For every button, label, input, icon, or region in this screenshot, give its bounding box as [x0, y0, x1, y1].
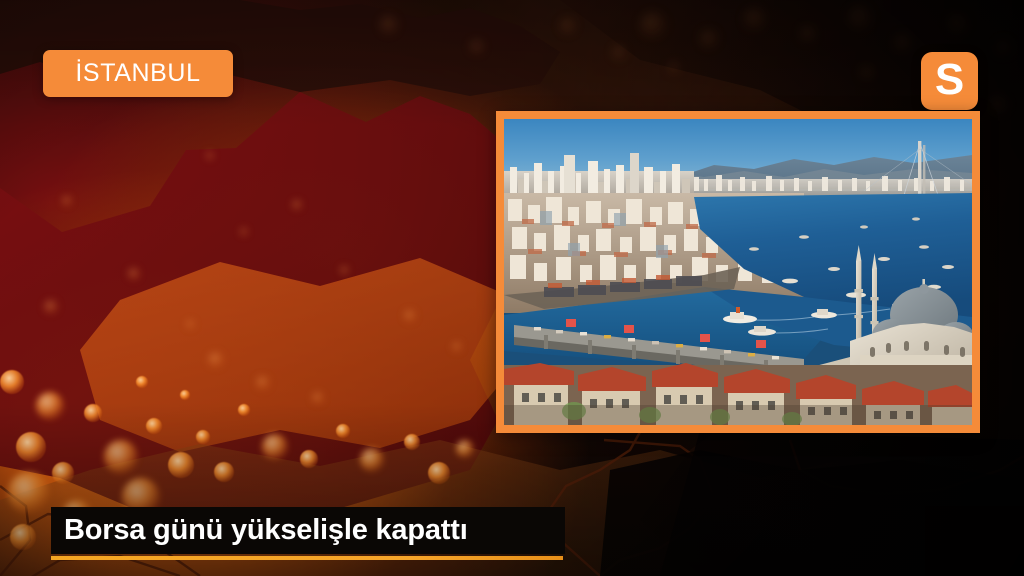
location-badge-label: İSTANBUL	[75, 61, 200, 86]
istanbul-cityscape-photo	[504, 119, 972, 425]
news-headline: Borsa günü yükselişle kapattı	[51, 507, 565, 560]
brand-logo-letter: S	[935, 58, 964, 102]
news-headline-text: Borsa günü yükselişle kapattı	[64, 515, 552, 545]
location-badge: İSTANBUL	[43, 50, 233, 97]
brand-logo[interactable]: S	[921, 52, 978, 110]
photo-frame	[496, 111, 980, 433]
screenshot-canvas: İSTANBUL S	[0, 0, 1024, 576]
news-headline-rule	[51, 556, 563, 560]
news-headline-bar: Borsa günü yükselişle kapattı	[51, 507, 565, 554]
